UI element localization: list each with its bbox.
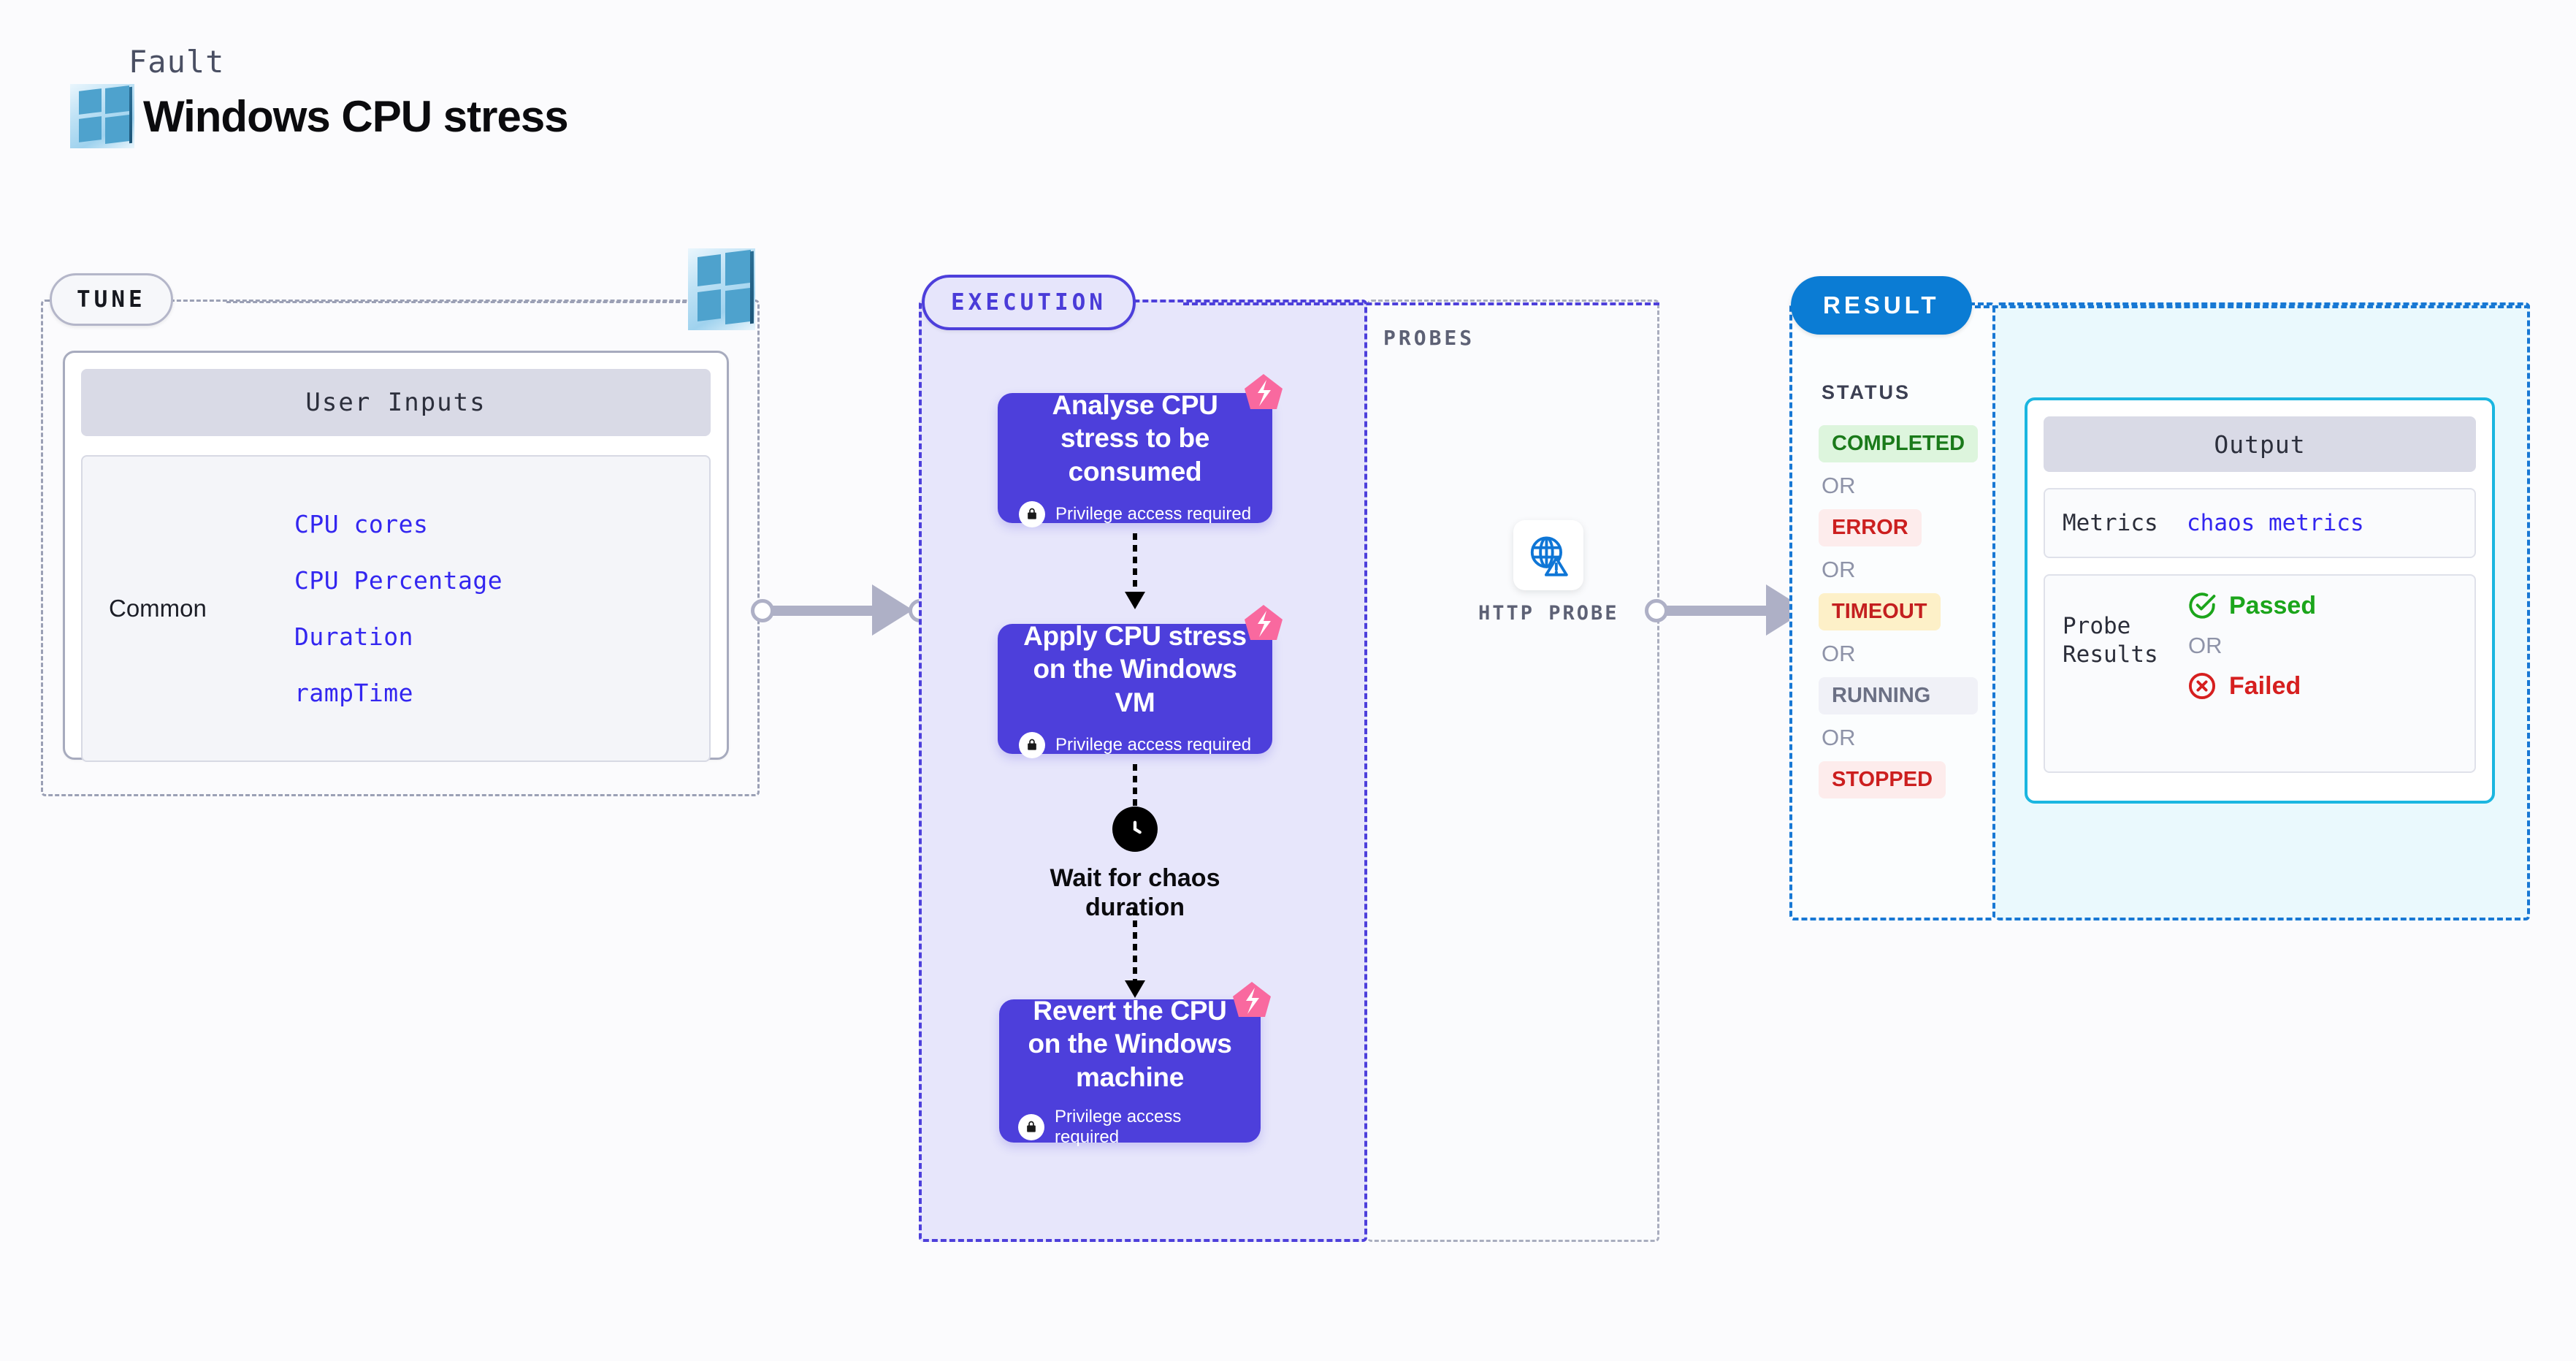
litmus-chaos-icon (1242, 373, 1285, 413)
param-list: CPU cores CPU Percentage Duration rampTi… (229, 510, 709, 707)
stage-badge-tune[interactable]: TUNE (50, 273, 173, 326)
lock-icon (1019, 501, 1045, 527)
execution-step-3-privilege: Privilege access required (1018, 1107, 1242, 1148)
windows-logo-icon (70, 84, 134, 148)
status-or-1: OR (1819, 462, 1978, 509)
page-title: Windows CPU stress (143, 91, 568, 142)
status-list: COMPLETED OR ERROR OR TIMEOUT OR RUNNING… (1819, 425, 1978, 798)
status-title: STATUS (1822, 381, 1911, 404)
connector-tune-to-execution (761, 584, 923, 636)
status-or-4: OR (1819, 714, 1978, 761)
tune-leader-line (226, 301, 687, 303)
probe-result-failed-label: Failed (2229, 672, 2301, 701)
execution-step-3-privilege-text: Privilege access required (1055, 1107, 1242, 1148)
probes-stage-container (1367, 300, 1659, 1242)
litmus-chaos-icon (1242, 603, 1285, 644)
probe-http[interactable]: HTTP PROBE (1478, 520, 1619, 625)
user-inputs-header: User Inputs (81, 369, 711, 436)
param-ramptime[interactable]: rampTime (294, 679, 709, 707)
tune-user-inputs-card: User Inputs Common CPU cores CPU Percent… (63, 351, 729, 760)
execution-step-2-privilege: Privilege access required (1019, 732, 1251, 758)
probe-result-passed-label: Passed (2229, 592, 2316, 620)
execution-step-3[interactable]: Revert the CPU on the Windows machine Pr… (999, 999, 1261, 1143)
check-circle-icon (2187, 590, 2217, 621)
output-header: Output (2044, 416, 2476, 472)
probe-result-failed: Failed (2187, 671, 2316, 701)
output-probe-results-label: Probe Results (2063, 590, 2187, 669)
probe-result-or: OR (2187, 628, 2316, 663)
status-or-2: OR (1819, 546, 1978, 593)
stage-badge-execution[interactable]: EXECUTION (922, 275, 1136, 330)
execution-step-2-title: Apply CPU stress on the Windows VM (1017, 619, 1253, 718)
x-circle-icon (2187, 671, 2217, 701)
status-badge-timeout: TIMEOUT (1819, 593, 1941, 630)
wait-for-chaos-duration-node: Wait for chaos duration (1040, 807, 1230, 922)
output-probe-results-row: Probe Results Passed OR Failed (2044, 574, 2476, 773)
probe-results-values: Passed OR Failed (2187, 590, 2316, 701)
flow-arrow-3 (1133, 909, 1137, 998)
clock-icon (1112, 807, 1158, 852)
execution-step-2[interactable]: Apply CPU stress on the Windows VM Privi… (998, 624, 1272, 754)
param-group-label: Common (83, 595, 229, 622)
execution-step-1-privilege-text: Privilege access required (1055, 504, 1251, 525)
tune-windows-logo-icon (688, 248, 755, 330)
status-badge-completed: COMPLETED (1819, 425, 1978, 462)
status-badge-error: ERROR (1819, 509, 1922, 546)
execution-step-1-title: Analyse CPU stress to be consumed (1017, 389, 1253, 487)
stage-badge-result[interactable]: RESULT (1791, 276, 1972, 335)
result-leader-line (1966, 305, 2530, 308)
output-card: Output Metrics chaos metrics Probe Resul… (2025, 397, 2495, 804)
execution-step-3-title: Revert the CPU on the Windows machine (1018, 994, 1242, 1093)
output-metrics-value[interactable]: chaos metrics (2187, 510, 2364, 536)
lock-icon (1018, 1114, 1044, 1140)
diagram-canvas: Fault Windows CPU stress TUNE User Input… (0, 0, 2576, 1361)
param-cpu-cores[interactable]: CPU cores (294, 510, 709, 538)
page-header: Fault Windows CPU stress (70, 44, 568, 148)
execution-step-1-privilege: Privilege access required (1019, 501, 1251, 527)
status-badge-running: RUNNING (1819, 677, 1978, 714)
status-badge-stopped: STOPPED (1819, 761, 1946, 798)
probes-title: PROBES (1383, 326, 1475, 350)
output-metrics-label: Metrics (2063, 509, 2187, 538)
lock-icon (1019, 732, 1045, 758)
flow-arrow-1 (1133, 533, 1137, 609)
user-inputs-body: Common CPU cores CPU Percentage Duration… (81, 455, 711, 762)
output-metrics-row: Metrics chaos metrics (2044, 488, 2476, 558)
probe-http-caption: HTTP PROBE (1478, 602, 1619, 625)
param-cpu-percentage[interactable]: CPU Percentage (294, 566, 709, 595)
litmus-chaos-icon (1230, 980, 1274, 1021)
probe-result-passed: Passed (2187, 590, 2316, 621)
globe-warning-icon (1513, 520, 1583, 590)
param-duration[interactable]: Duration (294, 622, 709, 651)
execution-step-1[interactable]: Analyse CPU stress to be consumed Privil… (998, 393, 1272, 523)
execution-step-2-privilege-text: Privilege access required (1055, 735, 1251, 755)
fault-kicker: Fault (129, 44, 568, 80)
execution-leader-line (1183, 302, 1659, 305)
status-or-3: OR (1819, 630, 1978, 677)
